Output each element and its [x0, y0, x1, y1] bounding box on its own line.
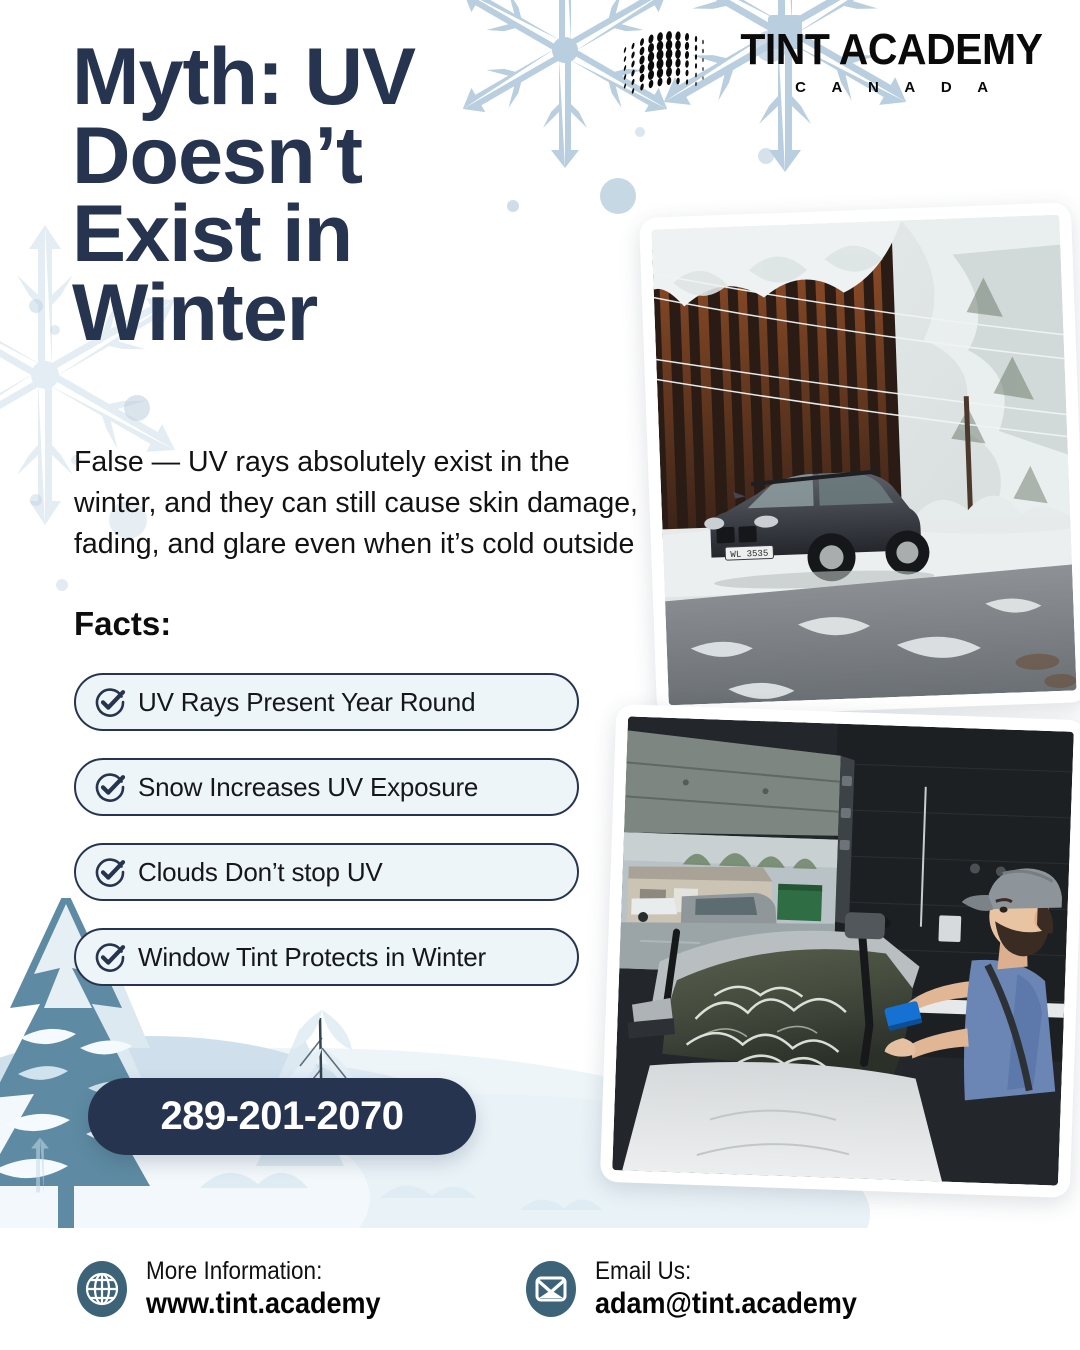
fact-label: Clouds Don’t stop UV — [138, 857, 383, 888]
fact-pill[interactable]: UV Rays Present Year Round — [74, 673, 579, 731]
phone-cta-button[interactable]: 289-201-2070 — [88, 1078, 476, 1155]
fact-pill[interactable]: Snow Increases UV Exposure — [74, 758, 579, 816]
envelope-icon — [525, 1260, 577, 1318]
headline-line-2: Doesn’t — [72, 117, 632, 196]
headline-line-4: Winter — [72, 274, 632, 353]
footer-email-value[interactable]: adam@tint.academy — [595, 1286, 857, 1321]
fact-label: Window Tint Protects in Winter — [138, 942, 486, 973]
footer-website-value[interactable]: www.tint.academy — [146, 1286, 381, 1321]
fact-label: Snow Increases UV Exposure — [138, 772, 478, 803]
check-circle-icon — [94, 941, 126, 973]
headline-line-3: Exist in — [72, 195, 632, 274]
svg-text:WL 3535: WL 3535 — [730, 549, 768, 560]
logo-subtitle: C A N A D A — [784, 79, 999, 96]
footer-email-item[interactable]: Email Us: adam@tint.academy — [525, 1257, 886, 1322]
footer-email-label: Email Us: — [595, 1257, 857, 1287]
footer-website-item[interactable]: More Information: www.tint.academy — [76, 1257, 407, 1322]
brand-logo: TINT ACADEMY C A N A D A — [619, 26, 1054, 98]
check-circle-icon — [94, 856, 126, 888]
contact-footer: More Information: www.tint.academy Email… — [0, 1228, 1080, 1350]
facts-list: UV Rays Present Year Round Snow Increase… — [74, 673, 579, 1013]
page-title: Myth: UV Doesn’t Exist in Winter — [72, 38, 632, 352]
body-paragraph: False — UV rays absolutely exist in the … — [74, 442, 640, 565]
facts-heading: Facts: — [74, 605, 171, 643]
tint-installation-photo — [600, 704, 1080, 1198]
check-circle-icon — [94, 771, 126, 803]
headline-line-1: Myth: UV — [72, 38, 632, 117]
logo-title: TINT ACADEMY — [741, 28, 1043, 72]
fact-pill[interactable]: Window Tint Protects in Winter — [74, 928, 579, 986]
footer-website-label: More Information: — [146, 1257, 381, 1287]
halftone-wave-logo-icon — [619, 26, 707, 98]
winter-road-car-photo: WL 3535 — [639, 202, 1080, 717]
fact-pill[interactable]: Clouds Don’t stop UV — [74, 843, 579, 901]
check-circle-icon — [94, 686, 126, 718]
fact-label: UV Rays Present Year Round — [138, 687, 475, 718]
globe-icon — [76, 1260, 128, 1318]
